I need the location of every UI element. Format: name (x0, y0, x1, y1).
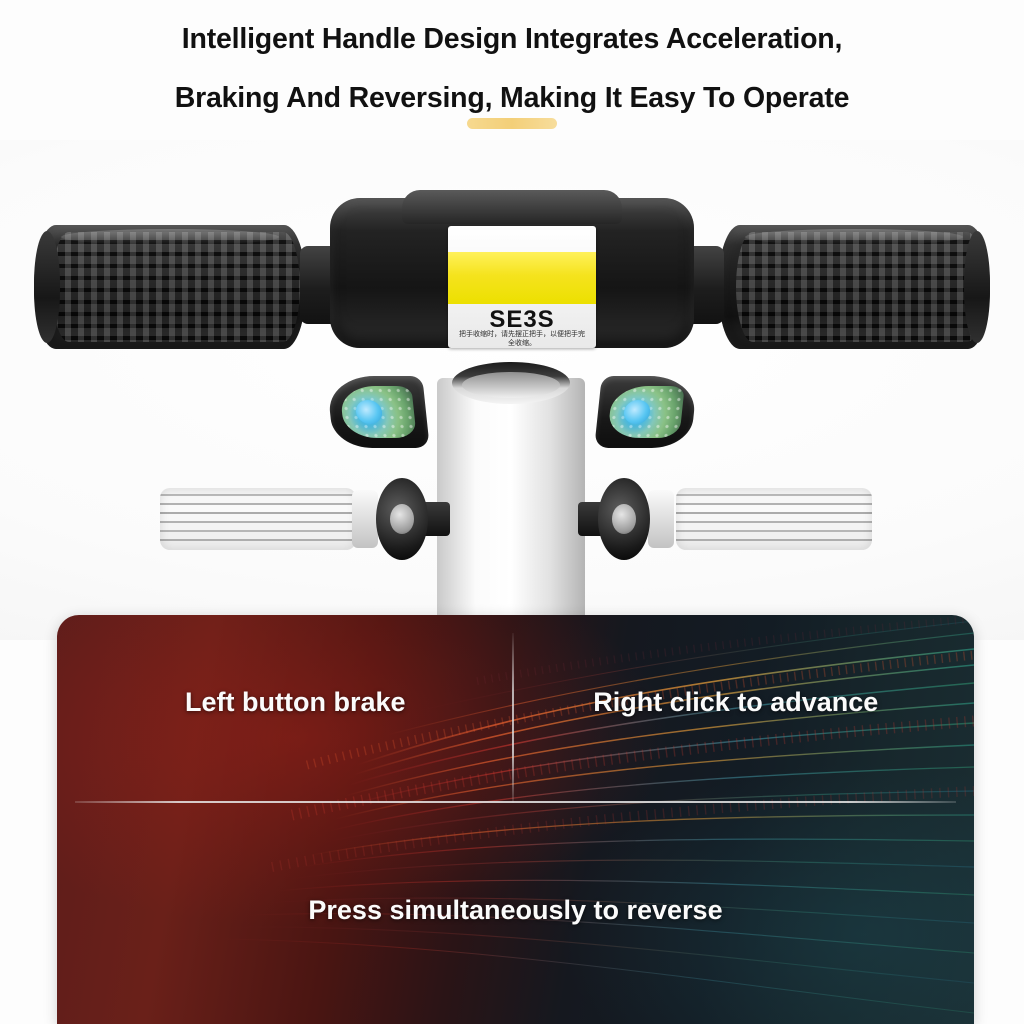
caption-row: Left button brake Right click to advance (57, 687, 974, 718)
grip-end-cap-left (34, 231, 60, 343)
steering-stem (437, 378, 585, 640)
grip-highlight-left (61, 229, 279, 245)
folding-bar-left (160, 488, 356, 550)
handlebar-grip-right (718, 225, 990, 349)
pivot-hole-right (612, 504, 636, 534)
brand-badge: SE3S 把手收缩时，请先摆正把手，以便把手完全收缩。 (448, 226, 596, 348)
product-photo: SE3S 把手收缩时，请先摆正把手，以便把手完全收缩。 (0, 140, 1024, 640)
caption-reverse: Press simultaneously to reverse (57, 895, 974, 926)
brake-paddle-left (326, 376, 430, 448)
badge-chinese-note: 把手收缩时，请先摆正把手，以便把手完全收缩。 (448, 330, 596, 348)
headline: Intelligent Handle Design Integrates Acc… (0, 10, 1024, 128)
folding-pivot-right (598, 478, 650, 560)
throttle-paddle-right (594, 376, 698, 448)
caption-left-brake: Left button brake (66, 687, 525, 718)
grip-texture-left (52, 232, 300, 342)
caption-right-advance: Right click to advance (507, 687, 966, 718)
folding-bar-cap-right (648, 490, 674, 548)
caption-banner: Left button brake Right click to advance… (57, 615, 974, 1024)
badge-yellow-stripe (448, 252, 596, 304)
folding-bar-right (676, 488, 872, 550)
headline-line-1: Intelligent Handle Design Integrates Acc… (0, 10, 1024, 69)
caption-divider-vertical (512, 633, 514, 803)
product-feature-image: Intelligent Handle Design Integrates Acc… (0, 0, 1024, 1024)
wave-graphic (57, 615, 974, 1024)
folding-bar-cap-left (352, 490, 378, 548)
grip-highlight-right (745, 229, 963, 245)
stem-collar-inner (462, 372, 560, 398)
grip-texture-right (736, 232, 984, 342)
housing-top-ridge (402, 190, 622, 224)
handlebar-grip-left (34, 225, 306, 349)
caption-divider-horizontal (75, 801, 956, 803)
headline-accent-bar (467, 118, 557, 129)
pivot-hole-left (390, 504, 414, 534)
grip-end-cap-right (964, 231, 990, 343)
folding-pivot-left (376, 478, 428, 560)
